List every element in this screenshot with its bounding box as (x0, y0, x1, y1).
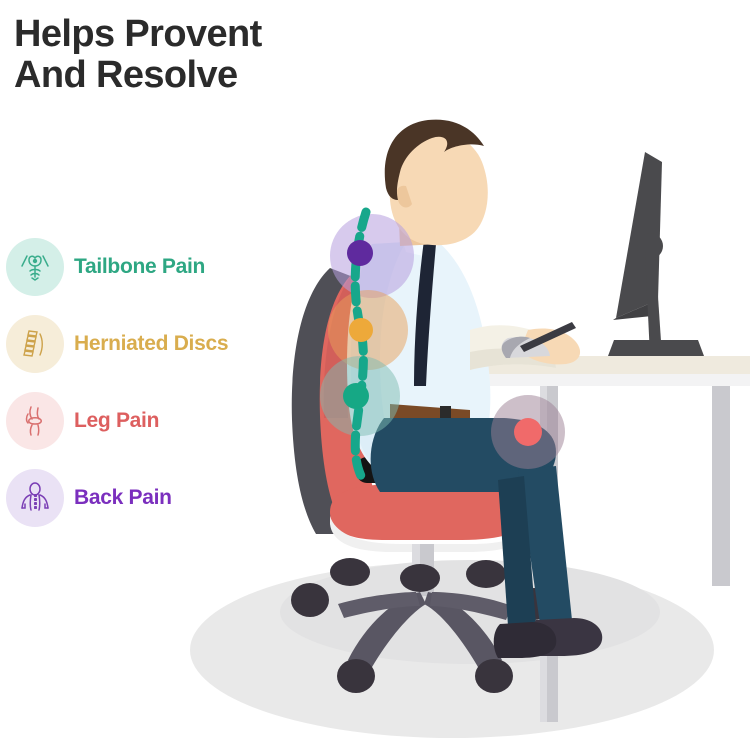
chair-caster-mid-left (330, 558, 370, 586)
chair-caster-left (337, 659, 375, 693)
chair-caster-center-rear (400, 564, 440, 592)
herniated-disc-dot (349, 318, 373, 342)
pain-legend: Tailbone Pain Herniated Discs (6, 234, 276, 542)
monitor (608, 152, 704, 356)
leg-pain-badge (6, 392, 64, 450)
chair-caster-back (291, 583, 329, 617)
title-line-1: Helps Provent (14, 14, 444, 55)
monitor-stand-base (608, 340, 704, 356)
infographic-poster: Helps Provent And Resolve (0, 0, 750, 750)
legend-item-tailbone-pain[interactable]: Tailbone Pain (6, 234, 276, 300)
spine-vertebrae-icon (17, 326, 53, 362)
legend-item-back-pain[interactable]: Back Pain (6, 465, 276, 531)
torso-spine-icon (17, 480, 53, 516)
leg-pain-dot (514, 418, 542, 446)
person-shoe-far (494, 622, 557, 658)
pelvis-coccyx-icon (17, 249, 53, 285)
tailbone-dot (343, 383, 369, 409)
chair-caster-right (475, 659, 513, 693)
chair-caster-mid-right (466, 560, 506, 588)
legend-item-leg-pain[interactable]: Leg Pain (6, 388, 276, 454)
back-pain-dot (347, 240, 373, 266)
legend-label-tailbone-pain: Tailbone Pain (74, 255, 205, 279)
legend-label-leg-pain: Leg Pain (74, 409, 159, 433)
legend-item-herniated-discs[interactable]: Herniated Discs (6, 311, 276, 377)
legend-label-herniated-discs: Herniated Discs (74, 332, 228, 356)
back-pain-badge (6, 469, 64, 527)
knee-joint-icon (17, 403, 53, 439)
title-line-2: And Resolve (14, 55, 444, 96)
herniated-discs-badge (6, 315, 64, 373)
legend-label-back-pain: Back Pain (74, 486, 172, 510)
tailbone-pain-badge (6, 238, 64, 296)
desk-leg-right (712, 386, 730, 586)
page-title: Helps Provent And Resolve (14, 14, 444, 96)
